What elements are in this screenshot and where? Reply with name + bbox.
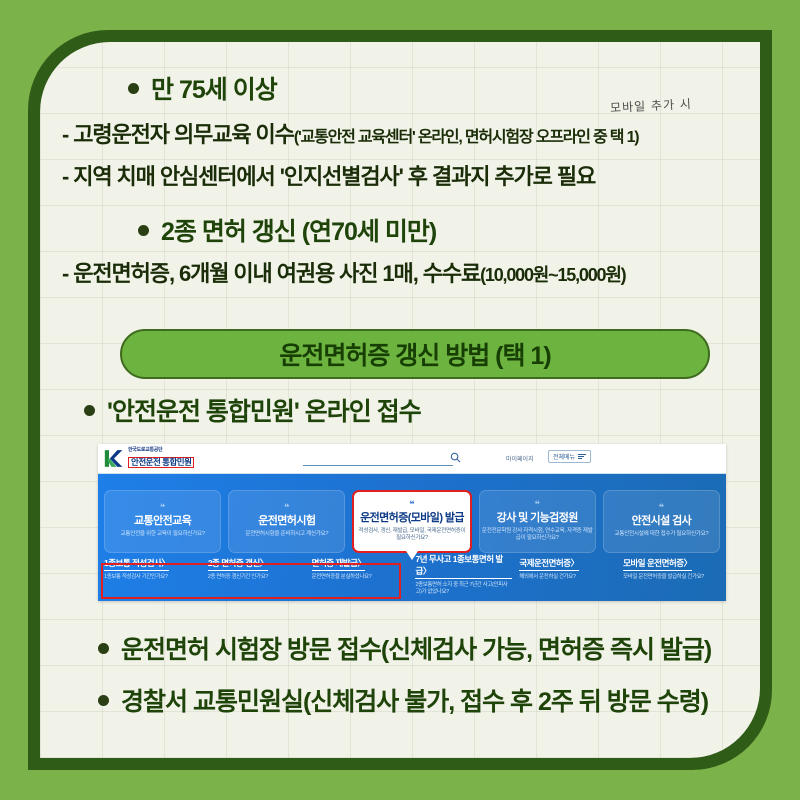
dash-marker: - [62, 122, 68, 147]
chevron-right-icon: 〉 [423, 566, 431, 576]
site-logo[interactable]: 한국도로교통공단 안전운전 통합민원 [104, 448, 194, 469]
dash-marker: - [62, 261, 68, 286]
method-testcenter: 운전면허 시험장 방문 접수(신체검사 가능, 면허증 즉시 발급) [40, 630, 760, 668]
card-desc: 운전전문학원 강사 자격시험, 연수교육, 자격증 재발급이 필요하신가요? [482, 528, 593, 543]
quick-link[interactable]: 면허증 재발급〉 운전면허증을 분실하셨나요? [312, 553, 409, 596]
quick-link[interactable]: 1종보통 적성검사〉 1종보통 적성검사 기간인가요? [104, 553, 201, 596]
card-title: 운전면허증(모바일) 발급 [360, 509, 464, 525]
link-label: 2종 면허증 갱신 [208, 558, 260, 568]
card-desc: 교통안전을 위한 교육이 필요하신가요? [121, 531, 205, 539]
section-class2-renewal: 2종 면허 갱신 (연70세 미만) [40, 212, 760, 250]
chevron-right-icon: 〉 [684, 558, 692, 568]
bullet-dot-icon [98, 643, 109, 654]
handwritten-note: 모바일 추가 시 [610, 95, 693, 116]
section-heading-age75: 만 75세 이상 [151, 70, 277, 106]
chevron-right-icon: 〉 [260, 558, 268, 568]
service-card-list: ❝ 교통안전교육 교통안전을 위한 교육이 필요하신가요? ❝ 운전면허시험 운… [104, 490, 720, 553]
chevron-right-icon: 〉 [357, 558, 365, 568]
search-icon[interactable] [450, 450, 461, 468]
link-desc: 운전면허증을 분실하셨나요? [312, 574, 409, 581]
koroad-logo-icon [104, 449, 124, 468]
link-desc: 해외에서 운전하실 건가요? [519, 574, 616, 581]
link-desc: 모바일 운전면허증을 발급하실 건가요? [623, 574, 720, 581]
quick-link[interactable]: 모바일 운전면허증〉 모바일 운전면허증을 발급하실 건가요? [623, 553, 720, 596]
quote-icon: ❝ [284, 504, 289, 510]
method-paren-testcenter: (신체검사 가능, 면허증 즉시 발급) [381, 630, 711, 666]
mypage-link[interactable]: 마이페이지 [506, 454, 534, 463]
line-main-text: 운전면허증, 6개월 이내 여권용 사진 1매, 수수료 [73, 261, 480, 286]
chevron-right-icon: 〉 [161, 558, 169, 568]
bullet-dot-icon [84, 405, 95, 416]
line-paren-text: ('교통안전 교육센터' 온라인, 면허시험장 오프라인 중 택 1) [294, 129, 639, 146]
line-paren-text: (10,000원~15,000원) [480, 265, 625, 285]
bullet-dot-icon [128, 83, 139, 94]
logo-org-name: 한국도로교통공단 [128, 448, 194, 453]
quote-icon: ❝ [160, 504, 165, 510]
bullet-dot-icon [138, 225, 149, 236]
method-police: 경찰서 교통민원실(신체검사 불가, 접수 후 2주 뒤 방문 수령) [40, 682, 760, 720]
service-card-highlighted[interactable]: ❝ 운전면허증(모바일) 발급 적성검사, 갱신, 재발급, 모바일, 국제운전… [352, 490, 471, 553]
link-desc: 2종 면허증 갱신기간 인가요? [208, 574, 305, 581]
quote-icon: ❝ [535, 501, 540, 507]
card-title: 안전시설 검사 [632, 512, 692, 528]
link-label: 모바일 운전면허증 [623, 558, 683, 568]
section-heading-class2: 2종 면허 갱신 (연70세 미만) [161, 212, 436, 248]
banner-label: 운전면허증 갱신 방법 (택 1) [279, 336, 550, 372]
method-online: '안전운전 통합민원' 온라인 접수 [40, 392, 760, 430]
service-card[interactable]: ❝ 교통안전교육 교통안전을 위한 교육이 필요하신가요? [104, 490, 221, 553]
allmenu-button[interactable]: 전체메뉴 [548, 450, 591, 463]
logo-service-name: 안전운전 통합민원 [128, 457, 194, 468]
quote-icon: ❝ [409, 501, 414, 507]
method-title-online: '안전운전 통합민원' 온라인 접수 [107, 392, 421, 428]
quick-link[interactable]: 국제운전면허증〉 해외에서 운전하실 건가요? [519, 553, 616, 596]
line-class2-documents: - 운전면허증, 6개월 이내 여권용 사진 1매, 수수료(10,000원~1… [40, 256, 760, 288]
method-title-testcenter: 운전면허 시험장 방문 접수 [121, 630, 381, 666]
search-input[interactable] [303, 453, 453, 466]
website-screenshot: 한국도로교통공단 안전운전 통합민원 마이페이지 전체메뉴 ❝ [98, 444, 726, 601]
dash-marker: - [62, 164, 68, 189]
card-desc: 적성검사, 갱신, 재발급, 모바일, 국제운전면허증이 필요하신가요? [356, 528, 467, 543]
card-desc: 교통안전시설에 대한 접수가 필요하신가요? [615, 531, 709, 539]
link-desc: 1종보통 적성검사 기간인가요? [104, 574, 201, 581]
bullet-dot-icon [98, 695, 109, 706]
poster-frame: 만 75세 이상 - 고령운전자 의무교육 이수('교통안전 교육센터' 온라인… [28, 30, 772, 770]
card-title: 강사 및 기능검정원 [497, 509, 578, 525]
service-card[interactable]: ❝ 운전면허시험 운전면허시험을 준비하시고 계신가요? [228, 490, 345, 553]
line-age75-dementia: - 지역 치매 안심센터에서 '인지선별검사' 후 결과지 추가로 필요 [40, 159, 760, 191]
site-header: 한국도로교통공단 안전운전 통합민원 마이페이지 전체메뉴 [98, 444, 726, 474]
renewal-method-banner: 운전면허증 갱신 방법 (택 1) [120, 329, 710, 379]
link-desc: 2종보통면허 소지 중 최근 7년간 사고(인피사고)가 없었나요? [415, 582, 512, 596]
quick-link[interactable]: 7년 무사고 1종보통면허 발급〉 2종보통면허 소지 중 최근 7년간 사고(… [415, 553, 512, 596]
link-label: 면허증 재발급 [312, 558, 358, 568]
service-card[interactable]: ❝ 강사 및 기능검정원 운전전문학원 강사 자격시험, 연수교육, 자격증 재… [479, 490, 596, 553]
quote-icon: ❝ [659, 504, 664, 510]
hamburger-icon [578, 452, 586, 460]
card-desc: 운전면허시험을 준비하시고 계신가요? [245, 531, 328, 539]
line-age75-education: - 고령운전자 의무교육 이수('교통안전 교육센터' 온라인, 면허시험장 오… [40, 117, 760, 149]
site-hero: ❝ 교통안전교육 교통안전을 위한 교육이 필요하신가요? ❝ 운전면허시험 운… [98, 474, 726, 601]
service-card[interactable]: ❝ 안전시설 검사 교통안전시설에 대한 접수가 필요하신가요? [603, 490, 720, 553]
method-title-police: 경찰서 교통민원실 [121, 682, 303, 718]
card-title: 교통안전교육 [134, 512, 191, 528]
quick-link[interactable]: 2종 면허증 갱신〉 2종 면허증 갱신기간 인가요? [208, 553, 305, 596]
line-main-text: 고령운전자 의무교육 이수 [73, 122, 294, 147]
allmenu-label: 전체메뉴 [553, 452, 575, 461]
card-title: 운전면허시험 [258, 512, 315, 528]
line-main-text: 지역 치매 안심센터에서 '인지선별검사' 후 결과지 추가로 필요 [73, 164, 595, 189]
chevron-right-icon: 〉 [571, 558, 579, 568]
link-label: 국제운전면허증 [519, 558, 570, 568]
link-label: 1종보통 적성검사 [104, 558, 161, 568]
poster-paper: 만 75세 이상 - 고령운전자 의무교육 이수('교통안전 교육센터' 온라인… [40, 42, 760, 758]
method-paren-police: (신체검사 불가, 접수 후 2주 뒤 방문 수령) [303, 682, 708, 718]
